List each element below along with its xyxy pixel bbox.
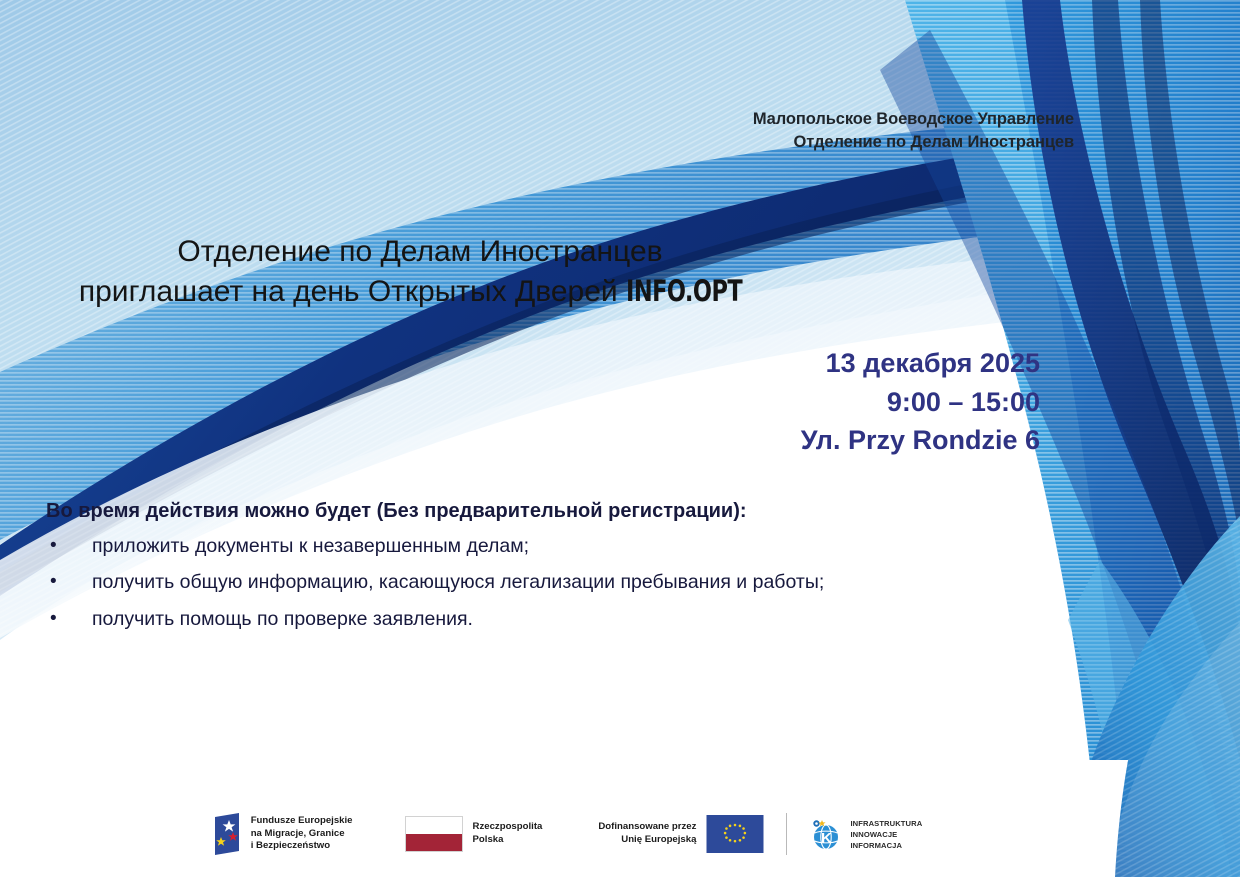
services-heading: Во время действия можно будет (Без предв… bbox=[46, 500, 1106, 523]
fe-line-3: i Bezpieczeństwo bbox=[251, 840, 353, 853]
organisation-header: Малопольское Воеводское Управление Отдел… bbox=[0, 108, 1074, 155]
ik-line-2: INNOWACJE bbox=[850, 829, 922, 840]
list-item: • получить общую информацию, касающуюся … bbox=[46, 568, 1106, 597]
rp-line-2: Polska bbox=[473, 834, 543, 847]
event-time: 9:00 – 15:00 bbox=[0, 383, 1040, 422]
title-line-2-prefix: приглашает на день Открытых Дверей bbox=[79, 275, 626, 308]
fe-line-2: na Migracje, Granice bbox=[251, 828, 353, 841]
footer-logo-bar: Fundusze Europejskie na Migracje, Granic… bbox=[0, 813, 1134, 855]
ue-line-1: Dofinansowane przez bbox=[598, 821, 696, 834]
ik3-globe-icon: K bbox=[809, 817, 843, 851]
list-item-label: получить общую информацию, касающуюся ле… bbox=[92, 568, 824, 597]
event-address: Ул. Przy Rondzie 6 bbox=[0, 421, 1040, 460]
svg-text:K: K bbox=[821, 830, 832, 847]
dofinansowane-caption: Dofinansowane przez Unię Europejską bbox=[598, 821, 696, 847]
european-union-flag-icon bbox=[706, 815, 764, 853]
fundusze-europejskie-stars-icon bbox=[212, 813, 242, 855]
services-section: Во время действия можно будет (Без предв… bbox=[46, 500, 1106, 641]
bullet-icon: • bbox=[46, 605, 92, 634]
logo-rzeczpospolita-polska: Rzeczpospolita Polska bbox=[405, 816, 543, 852]
ik-line-1: INFRASTRUKTURA bbox=[850, 818, 922, 829]
org-line-2: Отделение по Делам Иностранцев bbox=[0, 131, 1074, 154]
poster-canvas: Малопольское Воеводское Управление Отдел… bbox=[0, 0, 1240, 877]
bullet-icon: • bbox=[46, 532, 92, 561]
fe-line-1: Fundusze Europejskie bbox=[251, 815, 353, 828]
polish-flag-icon bbox=[405, 816, 463, 852]
event-brand-name: INFO.OPT bbox=[626, 272, 742, 311]
fundusze-europejskie-caption: Fundusze Europejskie na Migracje, Granic… bbox=[251, 815, 353, 854]
title-line-2: приглашает на день Открытых Дверей INFO.… bbox=[0, 272, 840, 312]
ue-line-2: Unię Europejską bbox=[598, 834, 696, 847]
title-line-1: Отделение по Делам Иностранцев bbox=[0, 232, 840, 272]
flag-red-stripe bbox=[406, 834, 462, 851]
footer-divider bbox=[786, 813, 787, 855]
ik-line-3: INFORMACJA bbox=[850, 840, 922, 851]
page-title: Отделение по Делам Иностранцев приглашае… bbox=[0, 232, 840, 312]
list-item-label: получить помощь по проверке заявления. bbox=[92, 605, 473, 634]
list-item: • приложить документы к незавершенным де… bbox=[46, 532, 1106, 561]
infrastruktura-caption: INFRASTRUKTURA INNOWACJE INFORMACJA bbox=[850, 818, 922, 851]
flag-white-stripe bbox=[406, 817, 462, 834]
logo-infrastruktura-innowacje: K INFRASTRUKTURA INNOWACJE INFORMACJA bbox=[809, 817, 922, 851]
event-details: 13 декабря 2025 9:00 – 15:00 Ул. Przy Ro… bbox=[0, 344, 1040, 460]
org-line-1: Малопольское Воеводское Управление bbox=[0, 108, 1074, 131]
logo-fundusze-europejskie: Fundusze Europejskie na Migracje, Granic… bbox=[212, 813, 353, 855]
event-date: 13 декабря 2025 bbox=[0, 344, 1040, 383]
bullet-icon: • bbox=[46, 568, 92, 597]
rp-line-1: Rzeczpospolita bbox=[473, 821, 543, 834]
list-item: • получить помощь по проверке заявления. bbox=[46, 605, 1106, 634]
list-item-label: приложить документы к незавершенным дела… bbox=[92, 532, 529, 561]
logo-dofinansowane-ue: Dofinansowane przez Unię Europejską bbox=[598, 815, 764, 853]
rzeczpospolita-caption: Rzeczpospolita Polska bbox=[473, 821, 543, 847]
